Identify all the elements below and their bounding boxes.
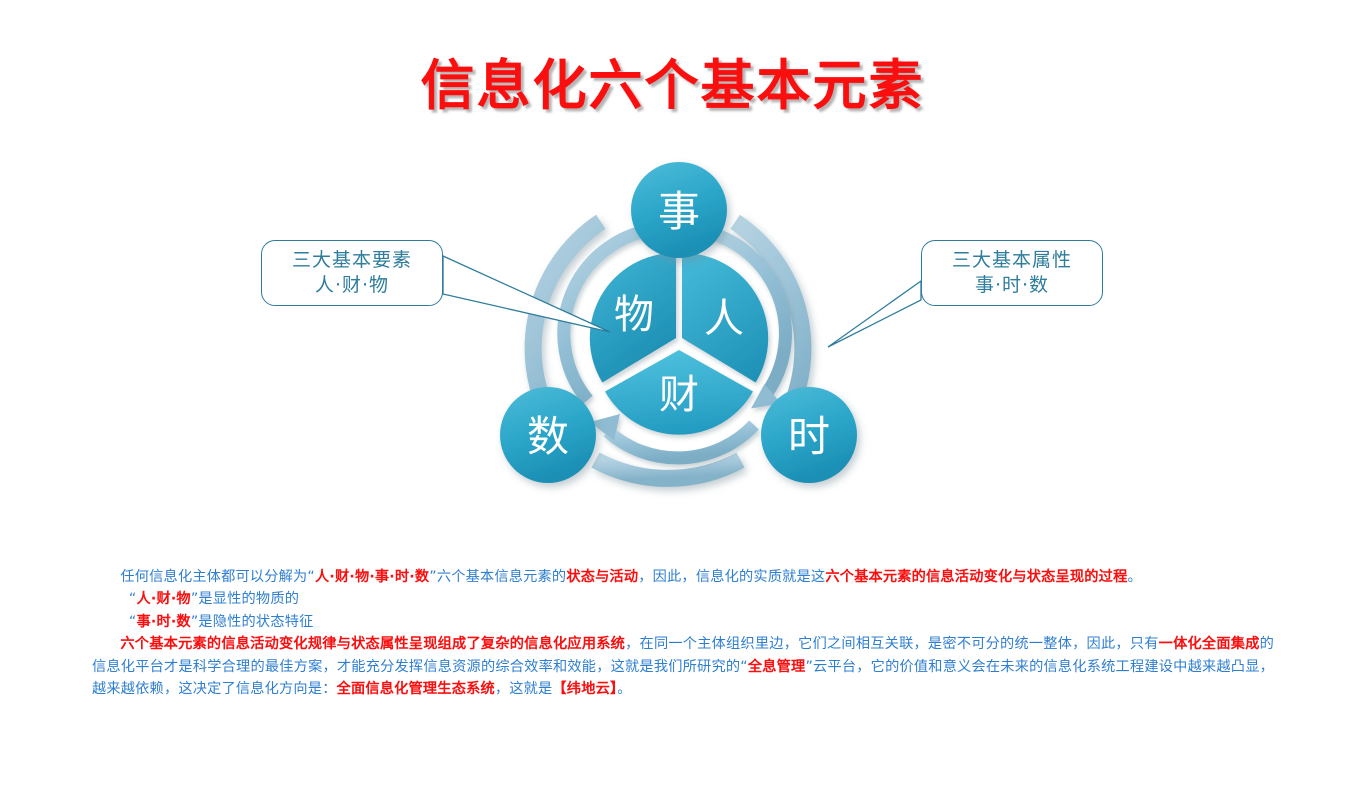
outer-node-shu-number[interactable]: 数 [500, 387, 596, 483]
p4-seg1-red: 六个基本元素的信息活动变化规律与状态属性呈现组成了复杂的信息化应用系统 [120, 636, 625, 652]
p1-seg3: ”六个基本信息元素的 [429, 569, 566, 585]
p1-seg7: 。 [1127, 569, 1141, 585]
pie-label-ren: 人 [704, 296, 744, 342]
callout-right-line2: 事·时·数 [922, 273, 1102, 298]
p4-seg8: ，这就是 [495, 681, 553, 697]
outer-node-label-shu-number: 数 [527, 412, 569, 461]
outer-node-shi-time[interactable]: 时 [761, 387, 857, 483]
callout-left-line1: 三大基本要素 [262, 248, 442, 273]
p3-rest: 是隐性的状态特征 [198, 614, 313, 630]
p1-seg4-red: 状态与活动 [566, 569, 638, 585]
p1-seg5: ，因此，信息化的实质就是这 [638, 569, 825, 585]
callout-right-line1: 三大基本属性 [922, 248, 1102, 273]
outer-node-label-shi-event: 事 [658, 187, 700, 236]
p4-seg10: 。 [617, 681, 631, 697]
pie-label-wu: 物 [614, 292, 654, 338]
p2-rest: 是显性的物质的 [198, 591, 299, 607]
p4-seg7-red: 全面信息化管理生态系统 [337, 681, 495, 697]
body-paragraph-3: “事·时·数”是隐性的状态特征 [92, 611, 1274, 633]
p1-seg2-red: 人·财·物·事·时·数 [315, 569, 429, 585]
p4-seg2: ，在同一个主体组织里边，它们之间相互关联，是密不可分的统一整体，因此，只有 [625, 636, 1159, 652]
outer-node-shi-event[interactable]: 事 [631, 162, 727, 258]
body-paragraph-2: “人·财·物”是显性的物质的 [92, 588, 1274, 610]
p1-seg1: 任何信息化主体都可以分解为“ [120, 569, 315, 585]
page-title: 信息化六个基本元素 [0, 56, 1345, 115]
outer-node-label-shi-time: 时 [788, 412, 830, 461]
body-paragraph-4: 六个基本元素的信息活动变化规律与状态属性呈现组成了复杂的信息化应用系统，在同一个… [92, 633, 1274, 700]
p2-red: 人·财·物 [136, 591, 190, 607]
p4-seg3-red: 一体化全面集成 [1159, 636, 1260, 652]
callout-left-line2: 人·财·物 [262, 273, 442, 298]
six-elements-cycle-diagram: 物 人 财 事 数 时 [468, 150, 908, 530]
callout-three-basic-elements[interactable]: 三大基本要素 人·财·物 [261, 240, 443, 306]
p1-seg6-red: 六个基本元素的信息活动变化与状态呈现的过程 [825, 569, 1127, 585]
callout-three-basic-attributes[interactable]: 三大基本属性 事·时·数 [921, 240, 1103, 306]
p4-seg9-red: 【纬地云】 [552, 681, 617, 697]
pie-label-cai: 财 [659, 372, 699, 418]
body-text: 任何信息化主体都可以分解为“人·财·物·事·时·数”六个基本信息元素的状态与活动… [92, 566, 1274, 700]
body-paragraph-1: 任何信息化主体都可以分解为“人·财·物·事·时·数”六个基本信息元素的状态与活动… [92, 566, 1274, 588]
p4-seg5-red: 全息管理 [748, 659, 806, 675]
p3-red: 事·时·数 [136, 614, 190, 630]
